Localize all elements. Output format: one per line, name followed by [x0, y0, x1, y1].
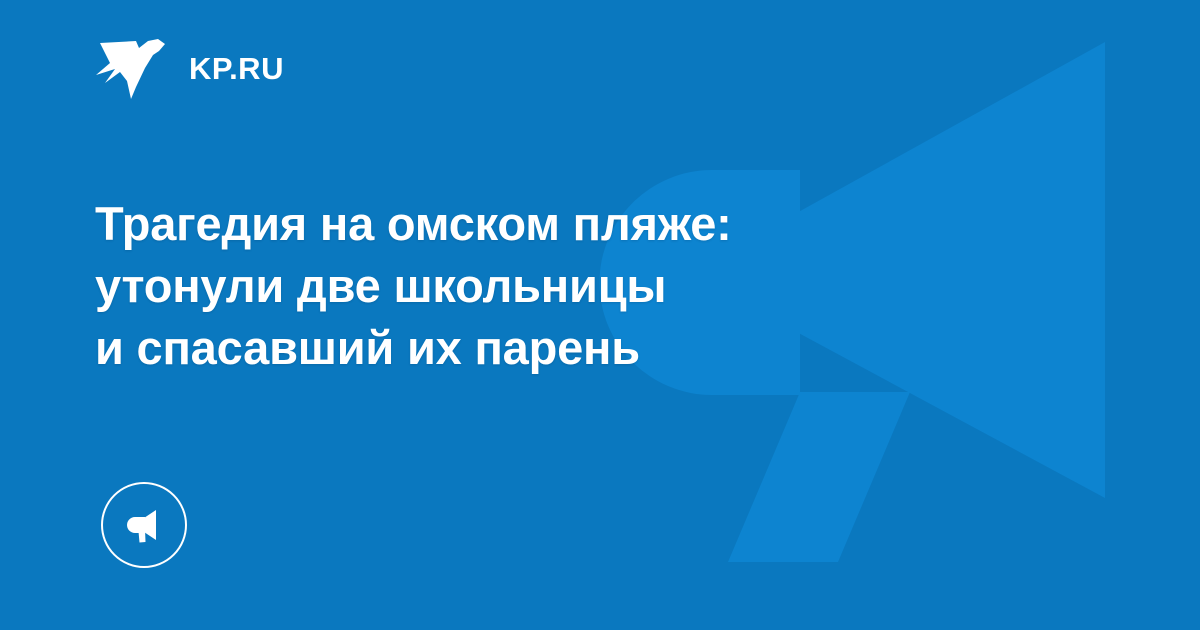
- site-header: KP.RU: [95, 32, 284, 104]
- headline-line-3: и спасавший их парень: [95, 317, 965, 379]
- headline-line-1: Трагедия на омском пляже:: [95, 193, 965, 255]
- swallow-bird-logo-icon: [95, 35, 167, 101]
- news-category-badge: [101, 482, 187, 568]
- headline: Трагедия на омском пляже: утонули две шк…: [95, 193, 965, 379]
- headline-line-2: утонули две школьницы: [95, 255, 965, 317]
- site-wordmark: KP.RU: [189, 53, 284, 84]
- megaphone-icon: [122, 503, 166, 547]
- share-card: KP.RU Трагедия на омском пляже: утонули …: [0, 0, 1200, 630]
